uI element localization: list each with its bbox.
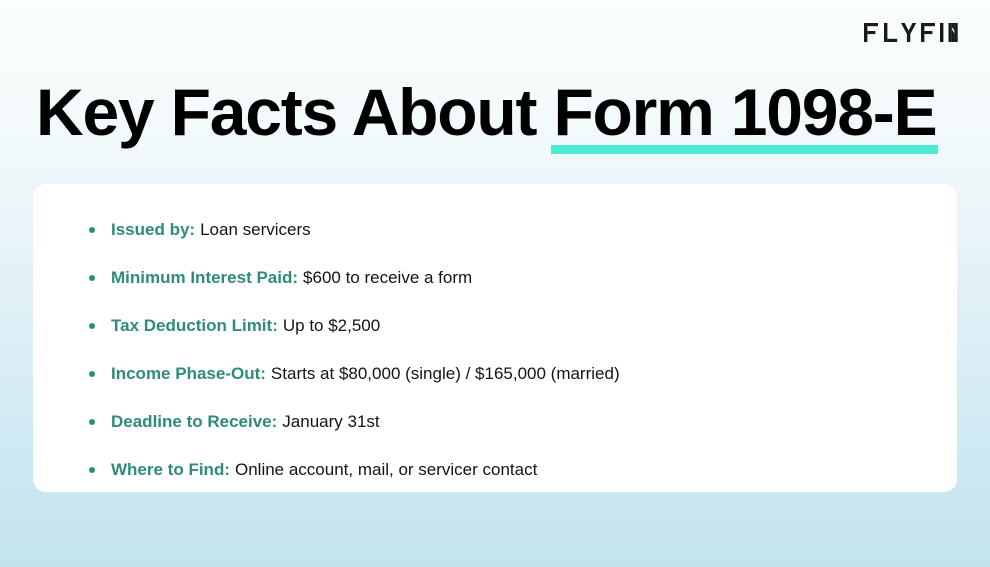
flyfin-logo: FLYFIN bbox=[864, 21, 958, 45]
fact-label: Income Phase-Out: bbox=[111, 363, 266, 386]
flyfin-wordmark-icon bbox=[864, 21, 958, 45]
bullet-dot-icon bbox=[89, 275, 95, 281]
bullet-dot-icon bbox=[89, 371, 95, 377]
fact-label: Where to Find: bbox=[111, 459, 230, 482]
list-item: Issued by: Loan servicers bbox=[89, 206, 917, 254]
page-title: Key Facts About Form 1098-E bbox=[36, 79, 966, 145]
fact-value: Up to $2,500 bbox=[283, 315, 380, 338]
list-item: Deadline to Receive: January 31st bbox=[89, 398, 917, 446]
bullet-dot-icon bbox=[89, 227, 95, 233]
page-title-highlight: Form 1098-E bbox=[553, 79, 936, 145]
fact-label: Tax Deduction Limit: bbox=[111, 315, 278, 338]
fact-value: Starts at $80,000 (single) / $165,000 (m… bbox=[271, 363, 620, 386]
list-item: Tax Deduction Limit: Up to $2,500 bbox=[89, 302, 917, 350]
list-item: Minimum Interest Paid: $600 to receive a… bbox=[89, 254, 917, 302]
fact-value: $600 to receive a form bbox=[303, 267, 472, 290]
bullet-dot-icon bbox=[89, 323, 95, 329]
page-title-highlight-text: Form 1098-E bbox=[553, 75, 936, 149]
bullet-dot-icon bbox=[89, 467, 95, 473]
fact-label: Minimum Interest Paid: bbox=[111, 267, 298, 290]
list-item: Income Phase-Out: Starts at $80,000 (sin… bbox=[89, 350, 917, 398]
list-item: Where to Find: Online account, mail, or … bbox=[89, 446, 917, 494]
fact-value: January 31st bbox=[282, 411, 379, 434]
page-title-wrapper: Key Facts About Form 1098-E bbox=[36, 79, 966, 145]
key-facts-card: Issued by: Loan servicers Minimum Intere… bbox=[33, 184, 957, 492]
fact-label: Deadline to Receive: bbox=[111, 411, 277, 434]
fact-label: Issued by: bbox=[111, 219, 195, 242]
fact-value: Loan servicers bbox=[200, 219, 311, 242]
bullet-dot-icon bbox=[89, 419, 95, 425]
key-facts-list: Issued by: Loan servicers Minimum Intere… bbox=[89, 206, 917, 494]
page-title-plain: Key Facts About bbox=[36, 75, 553, 149]
fact-value: Online account, mail, or servicer contac… bbox=[235, 459, 537, 482]
